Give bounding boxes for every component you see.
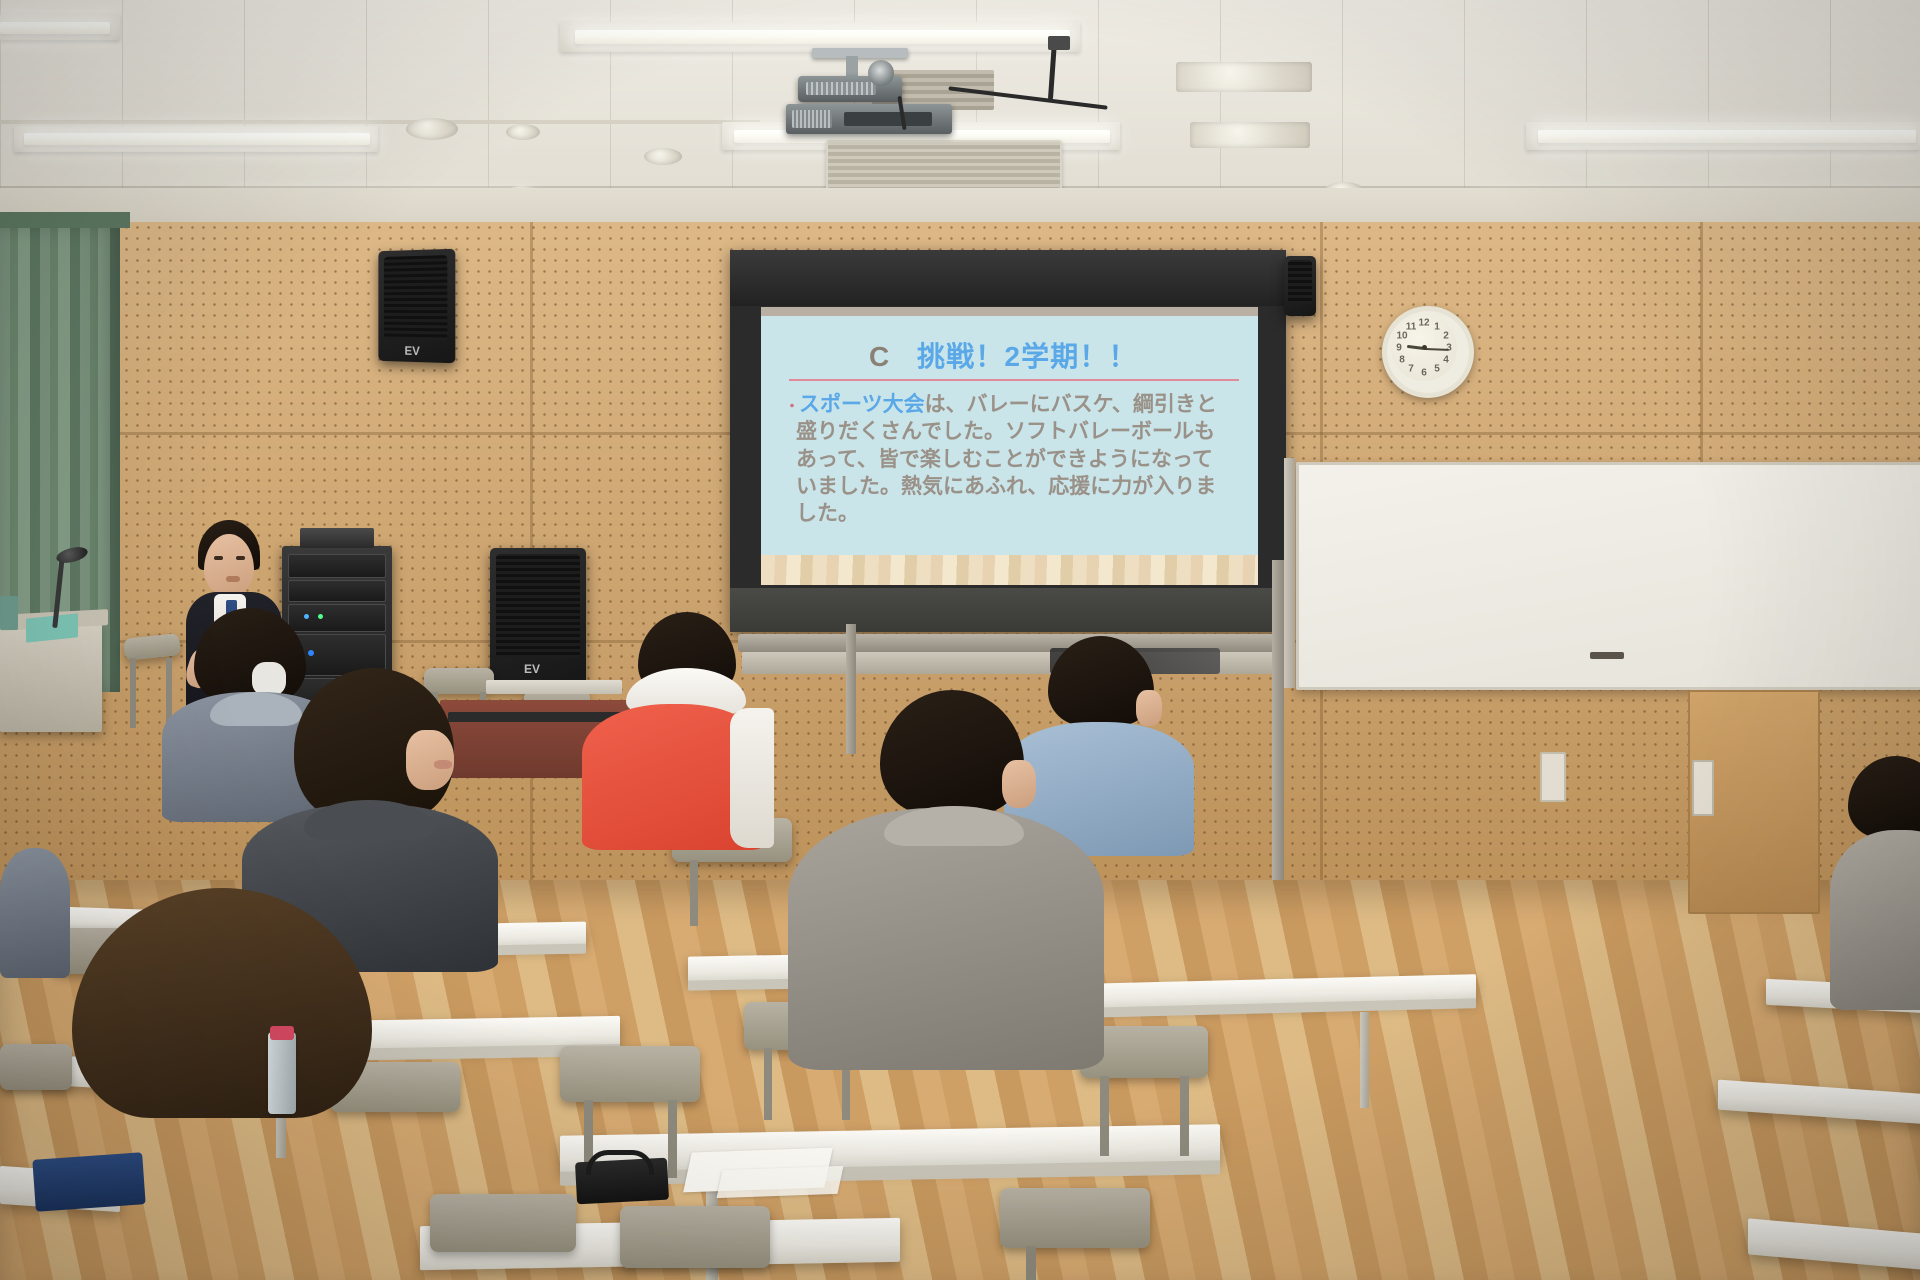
slide-body-line-5: した。 xyxy=(785,500,1251,527)
projector-port-panel xyxy=(844,112,932,126)
clock-numeral-5: 5 xyxy=(1434,364,1440,375)
chair-back xyxy=(0,1044,72,1090)
chair-back xyxy=(1000,1188,1150,1248)
slide-title: C 挑戦！2学期！！ xyxy=(869,335,1138,375)
fluorescent-lamp xyxy=(1538,130,1916,143)
clock-minute-hand xyxy=(1424,348,1449,351)
slide-bullet-marker: ・ xyxy=(785,398,799,414)
chair-leg xyxy=(1026,1246,1036,1280)
ceiling-seam xyxy=(0,120,760,124)
wall-speaker-right xyxy=(1284,256,1316,316)
recessed-spotlight xyxy=(506,124,540,140)
projected-slide: C 挑戦！2学期！！ ・スポーツ大会は、バレーにバスケ、綱引きと 盛りだくさんで… xyxy=(761,307,1258,585)
projector-grill xyxy=(792,110,832,128)
chair-leg xyxy=(668,1100,677,1178)
attendee-4-ear xyxy=(1002,760,1036,808)
clock-face: 12 1 2 3 4 5 6 7 8 9 10 11 xyxy=(1391,315,1457,381)
bag-handle xyxy=(586,1150,654,1175)
slide-floor-photo xyxy=(761,555,1258,585)
cable-junction xyxy=(1048,36,1070,50)
clock-numeral-7: 7 xyxy=(1408,364,1414,375)
curtain-rail xyxy=(0,212,130,228)
attendee-left-edge xyxy=(0,848,70,978)
slide-top-strip xyxy=(761,307,1258,316)
projector-lens xyxy=(868,60,894,86)
clock-numeral-11: 11 xyxy=(1406,322,1417,333)
screen-bottom-bar xyxy=(730,588,1286,632)
chair-leg xyxy=(130,658,136,728)
slide-title-highlight: 挑戦！2学期！！ xyxy=(917,341,1138,372)
fluorescent-lamp xyxy=(575,30,1070,44)
screen-support-pole xyxy=(1272,560,1284,890)
slide-body-line-4: いました。熱気にあふれ、応援に力が入りま xyxy=(785,473,1251,500)
attendee-6-hair xyxy=(72,888,372,1118)
door-handle-plate xyxy=(1692,760,1714,816)
projector-mount-arm xyxy=(846,56,858,76)
attendee-2-lips xyxy=(434,760,452,769)
recessed-light-panel xyxy=(1190,122,1310,148)
attendee-6 xyxy=(72,888,372,1118)
projector-ceiling-mount xyxy=(812,48,908,58)
slide-title-rule xyxy=(789,379,1239,381)
slide-body-line-2: 盛りだくさんでした。ソフトバレーボールも xyxy=(785,418,1251,445)
fluorescent-lamp xyxy=(0,22,110,34)
blue-folder xyxy=(32,1152,145,1212)
classroom-photo: C 挑戦！2学期！！ ・スポーツ大会は、バレーにバスケ、綱引きと 盛りだくさんで… xyxy=(0,0,1920,1280)
slide-body: ・スポーツ大会は、バレーにバスケ、綱引きと 盛りだくさんでした。ソフトバレーボー… xyxy=(785,391,1251,527)
clock-numeral-8: 8 xyxy=(1399,355,1405,366)
attendee-3-white-sleeve xyxy=(730,708,774,848)
handout-paper xyxy=(717,1166,844,1198)
chair-leg xyxy=(1100,1076,1109,1156)
presenter-face xyxy=(204,534,254,596)
speaker-brand-label: EV xyxy=(524,662,540,676)
attendee-5-ear xyxy=(1136,690,1162,726)
speaker-grill xyxy=(384,255,447,341)
wall-speaker-left: EV xyxy=(378,249,455,364)
fluorescent-lamp xyxy=(24,133,370,145)
slide-body-line-1: ・スポーツ大会は、バレーにバスケ、綱引きと xyxy=(785,391,1251,418)
clock-center-pin xyxy=(1422,345,1427,350)
presenter-eye-right xyxy=(236,556,245,560)
clock-numeral-2: 2 xyxy=(1443,331,1449,342)
whiteboard-marker xyxy=(1590,652,1624,659)
water-bottle xyxy=(268,1032,296,1114)
desk-leg xyxy=(1360,1012,1369,1108)
wall-switch-panel xyxy=(1540,752,1566,802)
clock-numeral-4: 4 xyxy=(1443,355,1449,366)
slide-body-line1-rest: は、バレーにバスケ、綱引きと xyxy=(925,393,1217,416)
chair-leg xyxy=(1180,1076,1189,1156)
whiteboard-frame-left xyxy=(1284,458,1295,688)
recessed-spotlight xyxy=(644,148,682,165)
recessed-light-panel xyxy=(1176,62,1312,92)
chair-back xyxy=(620,1206,770,1268)
wall-clock: 12 1 2 3 4 5 6 7 8 9 10 11 xyxy=(1382,306,1474,398)
slide-title-prefix: C xyxy=(869,341,890,372)
chair-back xyxy=(430,1194,576,1252)
attendee-7-hair xyxy=(1848,756,1920,838)
bottle-cap xyxy=(270,1026,294,1040)
attendee-3 xyxy=(580,612,780,852)
attendee-7 xyxy=(1830,756,1920,1016)
clock-numeral-1: 1 xyxy=(1434,322,1440,333)
slide-body-line-3: あって、皆で楽しむことができようになって xyxy=(785,446,1251,473)
projector-vent-grill xyxy=(806,82,876,95)
floor-speaker: EV xyxy=(490,548,586,688)
slide-body-highlight: スポーツ大会 xyxy=(799,393,925,416)
speaker-brand-label: EV xyxy=(405,344,420,358)
chair-leg xyxy=(690,860,698,926)
clock-numeral-12: 12 xyxy=(1418,318,1429,329)
attendee-left-edge-jacket xyxy=(0,848,70,978)
recessed-spotlight xyxy=(406,118,458,140)
attendee-7-top xyxy=(1830,830,1920,1010)
clock-numeral-9: 9 xyxy=(1396,343,1402,354)
attendee-4-sweatshirt xyxy=(788,808,1104,1070)
chair-leg xyxy=(764,1048,772,1120)
clock-numeral-6: 6 xyxy=(1421,368,1427,379)
presenter-eye-left xyxy=(214,556,223,560)
attendee-4 xyxy=(788,690,1108,1070)
presenter-mouth xyxy=(226,576,240,582)
lectern-side-panel xyxy=(0,596,18,630)
screen-roller-casing xyxy=(730,250,1286,306)
speaker-grill xyxy=(496,554,580,658)
speaker-grill xyxy=(1288,260,1312,304)
chair-back xyxy=(560,1046,700,1102)
